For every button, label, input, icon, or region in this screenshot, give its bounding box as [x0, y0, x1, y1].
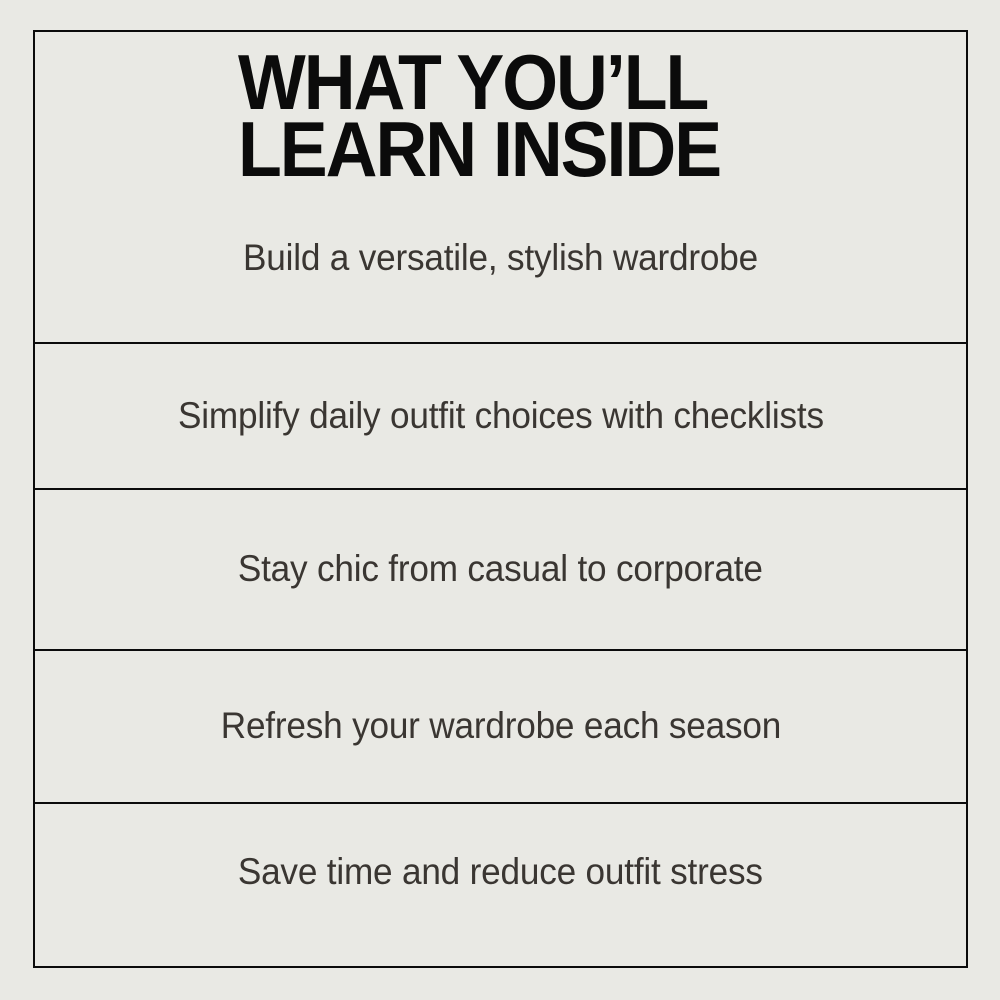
- benefit-row-3: Stay chic from casual to corporate: [35, 488, 966, 649]
- page-title: WHAT YOU’LL LEARN INSIDE: [238, 49, 720, 183]
- benefit-row-2: Simplify daily outfit choices with check…: [35, 342, 966, 488]
- headline-and-first-benefit-cell: WHAT YOU’LL LEARN INSIDE Build a versati…: [35, 32, 966, 342]
- benefit-item-3: Stay chic from casual to corporate: [238, 549, 763, 590]
- benefit-item-4: Refresh your wardrobe each season: [220, 706, 780, 747]
- benefit-item-1: Build a versatile, stylish wardrobe: [58, 238, 942, 279]
- page-title-line-2: LEARN INSIDE: [238, 116, 720, 183]
- benefit-item-5: Save time and reduce outfit stress: [238, 852, 763, 893]
- poster-canvas: WHAT YOU’LL LEARN INSIDE Build a versati…: [0, 0, 1000, 1000]
- benefit-item-2: Simplify daily outfit choices with check…: [178, 396, 824, 437]
- benefit-row-4: Refresh your wardrobe each season: [35, 649, 966, 802]
- benefit-row-5: Save time and reduce outfit stress: [35, 802, 966, 966]
- benefits-card: WHAT YOU’LL LEARN INSIDE Build a versati…: [33, 30, 968, 968]
